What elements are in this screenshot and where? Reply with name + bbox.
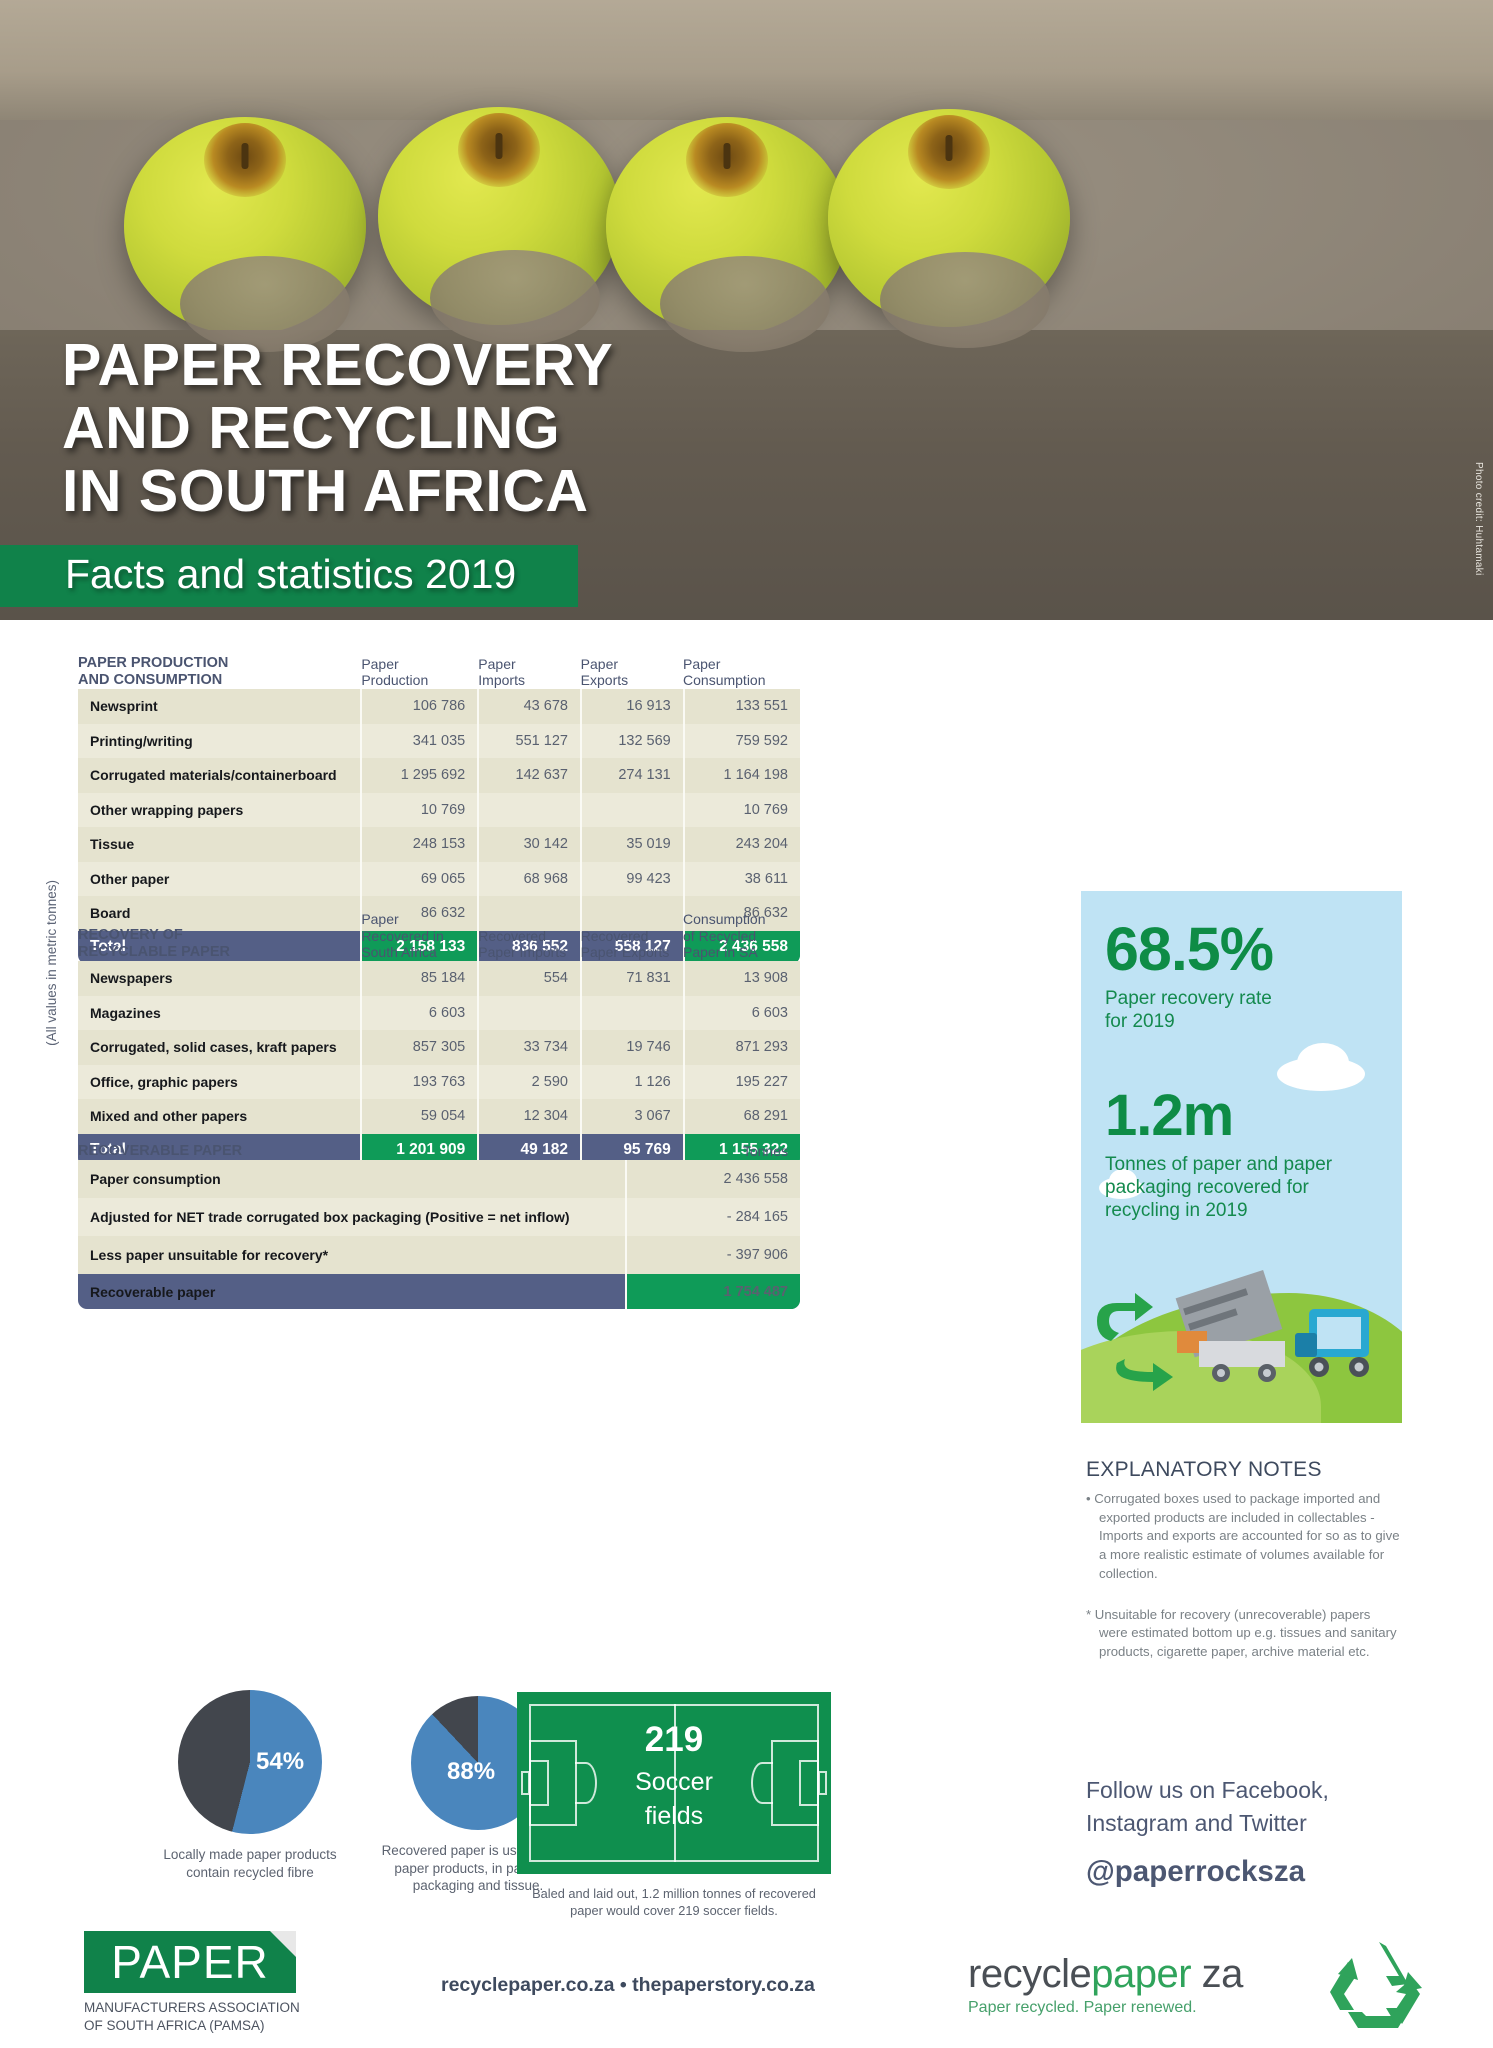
pie-1-graphic: 54% xyxy=(178,1690,322,1834)
row-value: 1 295 692 xyxy=(360,758,477,793)
row-label: Mixed and other papers xyxy=(78,1108,360,1124)
table1-col-exports: PaperExports xyxy=(581,656,683,689)
recovery-recyclable-table: RECOVERY OF RECYCLABLE PAPER PaperRecove… xyxy=(78,903,800,1167)
soccer-field-count: 219 xyxy=(517,1720,831,1760)
row-value: 274 131 xyxy=(580,758,683,793)
soccer-label-line1: Soccer xyxy=(517,1768,831,1797)
title-line-1: PAPER RECOVERY xyxy=(62,336,613,395)
table3-total-label: Recoverable paper xyxy=(78,1274,625,1309)
row-value: 2 436 558 xyxy=(625,1160,800,1198)
pamsa-logo-text: PAPER xyxy=(111,1935,269,1989)
row-value xyxy=(580,793,683,828)
row-value: 193 763 xyxy=(360,1065,477,1100)
social-handle[interactable]: @paperrocksza xyxy=(1086,1855,1416,1889)
tonnes-recovered-value: 1.2m xyxy=(1105,1087,1332,1145)
recycling-truck-icon xyxy=(1081,1223,1402,1423)
row-value: - 397 906 xyxy=(625,1236,800,1274)
pie-2-value: 88% xyxy=(447,1758,495,1786)
row-label: Less paper unsuitable for recovery* xyxy=(78,1247,625,1263)
table2-title: RECOVERY OF RECYCLABLE PAPER xyxy=(78,927,361,961)
infographic-page: PAPER RECOVERY AND RECYCLING IN SOUTH AF… xyxy=(0,0,1493,2048)
row-value: 6 603 xyxy=(683,996,800,1031)
row-value: 2 590 xyxy=(477,1065,580,1100)
table-row: Newsprint106 78643 67816 913133 551 xyxy=(78,689,800,724)
photo-credit: Photo credit: Huhtamaki xyxy=(1473,462,1484,576)
table1-col-imports: PaperImports xyxy=(478,656,580,689)
explanatory-notes: EXPLANATORY NOTES • Corrugated boxes use… xyxy=(1086,1458,1402,1662)
title-line-2: AND RECYCLING xyxy=(62,399,613,458)
hero-banner: PAPER RECOVERY AND RECYCLING IN SOUTH AF… xyxy=(0,0,1493,620)
row-value: - 284 165 xyxy=(625,1198,800,1236)
pamsa-logo: PAPER MANUFACTURERS ASSOCIATION OF SOUTH… xyxy=(84,1931,300,2035)
row-value: 35 019 xyxy=(580,827,683,862)
table-row: Corrugated materials/containerboard1 295… xyxy=(78,758,800,793)
row-value: 1 164 198 xyxy=(683,758,800,793)
row-value: 30 142 xyxy=(477,827,580,862)
table2-col-recovered-imports: RecoveredPaper Imports xyxy=(478,928,580,961)
pie-1-value: 54% xyxy=(256,1748,304,1776)
row-value xyxy=(580,996,683,1031)
row-value: 132 569 xyxy=(580,724,683,759)
table-row: Magazines6 6036 603 xyxy=(78,996,800,1031)
row-value: 195 227 xyxy=(683,1065,800,1100)
stats-panel: 68.5% Paper recovery rate for 2019 1.2m … xyxy=(1081,891,1402,1423)
table-row: Other paper69 06568 96899 42338 611 xyxy=(78,862,800,897)
soccer-field-caption: Baled and laid out, 1.2 million tonnes o… xyxy=(517,1885,831,1920)
row-label: Tissue xyxy=(78,836,360,852)
pamsa-subtitle: MANUFACTURERS ASSOCIATION OF SOUTH AFRIC… xyxy=(84,1999,300,2035)
row-label: Corrugated materials/containerboard xyxy=(78,767,360,783)
table-row: Printing/writing341 035551 127132 569759… xyxy=(78,724,800,759)
table1-col-consumption: PaperConsumption xyxy=(683,656,800,689)
row-value: 85 184 xyxy=(360,961,477,996)
row-value: 10 769 xyxy=(360,793,477,828)
table1-title: PAPER PRODUCTION AND CONSUMPTION xyxy=(78,655,361,689)
table3-total-row: Recoverable paper 1 754 487 xyxy=(78,1274,800,1309)
row-value: 133 551 xyxy=(683,689,800,724)
table-row: Adjusted for NET trade corrugated box pa… xyxy=(78,1198,800,1236)
row-label: Other paper xyxy=(78,871,360,887)
row-value: 16 913 xyxy=(580,689,683,724)
row-value: 13 908 xyxy=(683,961,800,996)
page-fold-icon xyxy=(270,1931,296,1957)
recyclepaper-logo: recyclepaper za Paper recycled. Paper re… xyxy=(968,1952,1438,2017)
row-label: Printing/writing xyxy=(78,733,360,749)
row-label: Adjusted for NET trade corrugated box pa… xyxy=(78,1209,625,1225)
table-row: Paper consumption2 436 558 xyxy=(78,1160,800,1198)
row-label: Newsprint xyxy=(78,698,360,714)
table-row: Less paper unsuitable for recovery*- 397… xyxy=(78,1236,800,1274)
row-value: 142 637 xyxy=(477,758,580,793)
row-label: Magazines xyxy=(78,1005,360,1021)
table-row: Office, graphic papers193 7632 5901 1261… xyxy=(78,1065,800,1100)
row-value: 106 786 xyxy=(360,689,477,724)
row-value: 38 611 xyxy=(683,862,800,897)
table3-title: RECOVERABLE PAPER xyxy=(78,1143,242,1160)
row-value: 248 153 xyxy=(360,827,477,862)
explanatory-notes-heading: EXPLANATORY NOTES xyxy=(1086,1458,1402,1482)
row-value: 341 035 xyxy=(360,724,477,759)
table3-col-tonnes: Tonnes xyxy=(743,1143,800,1160)
row-value: 69 065 xyxy=(360,862,477,897)
row-value: 33 734 xyxy=(477,1030,580,1065)
tonnes-recovered-label: Tonnes of paper and paper packaging reco… xyxy=(1105,1153,1332,1223)
explanatory-note-bullet: • Corrugated boxes used to package impor… xyxy=(1086,1490,1402,1584)
units-note: (All values in metric tonnes) xyxy=(44,880,59,1046)
soccer-label-line2: fields xyxy=(517,1802,831,1831)
row-value: 6 603 xyxy=(360,996,477,1031)
subtitle-bar: Facts and statistics 2019 xyxy=(0,545,578,607)
row-value: 19 746 xyxy=(580,1030,683,1065)
row-value: 43 678 xyxy=(477,689,580,724)
row-value: 243 204 xyxy=(683,827,800,862)
recovery-rate-value: 68.5% xyxy=(1105,919,1273,980)
table-row: Corrugated, solid cases, kraft papers857… xyxy=(78,1030,800,1065)
row-value xyxy=(477,996,580,1031)
row-value: 68 968 xyxy=(477,862,580,897)
row-value: 1 126 xyxy=(580,1065,683,1100)
row-value: 10 769 xyxy=(683,793,800,828)
row-label: Other wrapping papers xyxy=(78,802,360,818)
table2-col-recovered-sa: PaperRecovered inSouth Africa xyxy=(361,911,478,961)
row-value: 554 xyxy=(477,961,580,996)
table2-col-recovered-exports: RecoveredPaper Exports xyxy=(581,928,683,961)
recovery-rate-label: Paper recovery rate for 2019 xyxy=(1105,987,1273,1033)
row-value: 71 831 xyxy=(580,961,683,996)
row-label: Newspapers xyxy=(78,970,360,986)
row-label: Corrugated, solid cases, kraft papers xyxy=(78,1039,360,1055)
table1-col-production: PaperProduction xyxy=(361,656,478,689)
table3-total-value: 1 754 487 xyxy=(625,1274,800,1309)
footer-urls[interactable]: recyclepaper.co.za • thepaperstory.co.za xyxy=(441,1974,815,1997)
pamsa-logo-box: PAPER xyxy=(84,1931,296,1993)
recycling-symbol-icon xyxy=(1324,1936,1434,2032)
explanatory-note-footnote: * Unsuitable for recovery (unrecoverable… xyxy=(1086,1606,1402,1662)
table2-col-consumption-recycled: Consumptionof RecycledPaper in SA xyxy=(683,911,800,961)
row-value xyxy=(477,793,580,828)
row-value: 857 305 xyxy=(360,1030,477,1065)
title-line-3: IN SOUTH AFRICA xyxy=(62,462,613,521)
recoverable-paper-table: RECOVERABLE PAPER Tonnes Paper consumpti… xyxy=(78,1128,800,1309)
row-value: 99 423 xyxy=(580,862,683,897)
subtitle-text: Facts and statistics 2019 xyxy=(0,545,578,598)
social-block: Follow us on Facebook, Instagram and Twi… xyxy=(1086,1774,1416,1889)
row-label: Paper consumption xyxy=(78,1171,625,1187)
table-row: Newspapers85 18455471 83113 908 xyxy=(78,961,800,996)
row-value: 871 293 xyxy=(683,1030,800,1065)
table-row: Tissue248 15330 14235 019243 204 xyxy=(78,827,800,862)
row-value: 759 592 xyxy=(683,724,800,759)
soccer-field-graphic: 219 Soccer fields xyxy=(517,1692,831,1874)
row-value: 551 127 xyxy=(477,724,580,759)
row-label: Office, graphic papers xyxy=(78,1074,360,1090)
table-row: Other wrapping papers10 76910 769 xyxy=(78,793,800,828)
follow-text: Follow us on Facebook, Instagram and Twi… xyxy=(1086,1774,1416,1841)
page-title: PAPER RECOVERY AND RECYCLING IN SOUTH AF… xyxy=(62,336,613,525)
